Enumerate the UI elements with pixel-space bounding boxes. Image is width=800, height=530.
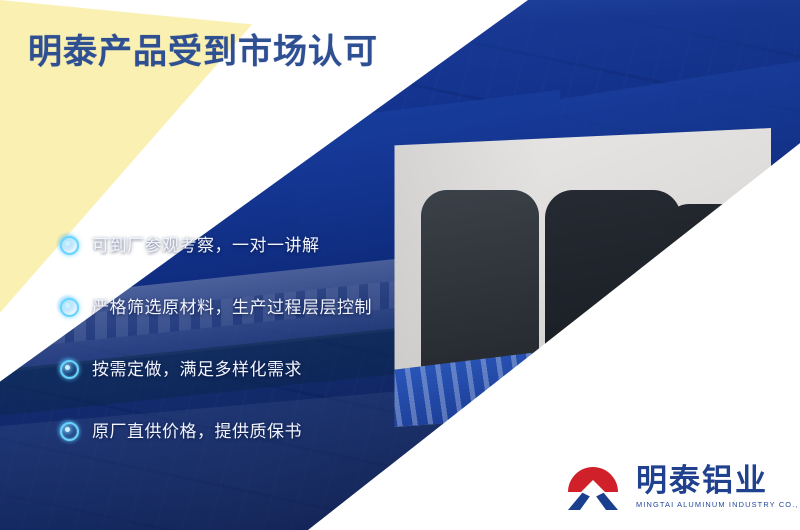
list-item: 严格筛选原材料，生产过程层层控制 [56,274,406,336]
feature-label: 原厂直供价格，提供质保书 [92,417,302,442]
logo-english-name: MINGTAI ALUMINUM INDUSTRY CO., LTD [636,500,800,509]
target-circle-icon [56,418,78,440]
list-item: 可到厂参观考察，一对一讲解 [56,212,406,274]
feature-label: 严格筛选原材料，生产过程层层控制 [92,293,372,318]
target-circle-icon [56,232,78,254]
target-circle-icon [56,294,78,316]
page-title: 明泰产品受到市场认可 [28,24,378,73]
company-logo: 明泰铝业 MINGTAI ALUMINUM INDUSTRY CO., LTD [560,458,800,516]
list-item: 原厂直供价格，提供质保书 [56,398,406,460]
feature-label: 可到厂参观考察，一对一讲解 [92,231,320,256]
promo-banner: 明泰产品受到市场认可 [0,0,800,530]
logo-chinese-name: 明泰铝业 [636,465,800,498]
feature-list: 可到厂参观考察，一对一讲解 严格筛选原材料，生产过程层层控制 按需定做，满足多样… [56,212,406,460]
mingtai-sun-mountain-icon [560,458,626,516]
logo-text-block: 明泰铝业 MINGTAI ALUMINUM INDUSTRY CO., LTD [636,465,800,510]
feature-label: 按需定做，满足多样化需求 [92,355,302,380]
target-circle-icon [56,356,78,378]
list-item: 按需定做，满足多样化需求 [56,336,406,398]
